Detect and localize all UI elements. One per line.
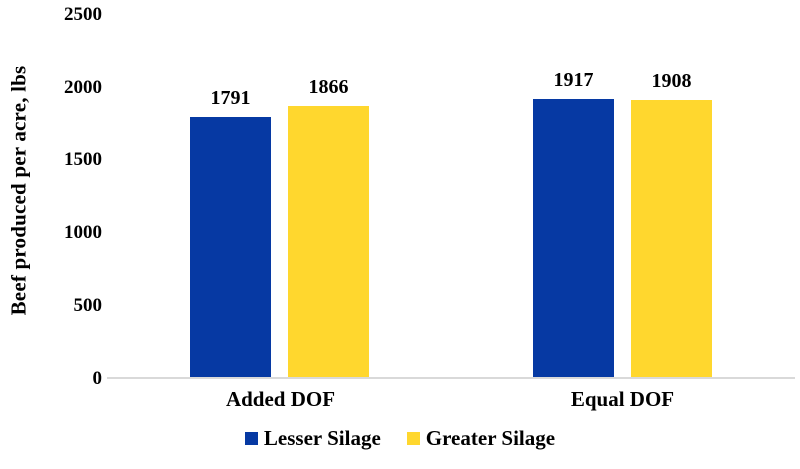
bar-value-1866: 1866: [268, 77, 389, 97]
y-tick-500: 500: [38, 296, 102, 315]
y-axis-title: Beef produced per acre, lbs: [0, 0, 38, 380]
y-tick-1000: 1000: [38, 223, 102, 242]
bar-added-dof-lesser-silage[interactable]: [190, 117, 271, 377]
bar-value-1908: 1908: [611, 71, 732, 91]
legend-label-lesser-silage: Lesser Silage: [264, 428, 381, 449]
bar-added-dof-greater-silage[interactable]: [288, 106, 369, 377]
y-tick-0: 0: [38, 369, 102, 388]
bar-chart: Beef produced per acre, lbs 2500 2000 15…: [0, 0, 800, 469]
y-tick-1500: 1500: [38, 150, 102, 169]
category-label-equal-dof: Equal DOF: [512, 386, 733, 413]
legend-item-greater-silage[interactable]: Greater Silage: [407, 428, 555, 449]
legend-item-lesser-silage[interactable]: Lesser Silage: [245, 428, 381, 449]
y-axis-title-text: Beef produced per acre, lbs: [7, 65, 32, 315]
bar-equal-dof-lesser-silage[interactable]: [533, 99, 614, 377]
legend-label-greater-silage: Greater Silage: [426, 428, 555, 449]
y-tick-2000: 2000: [38, 78, 102, 97]
y-tick-2500: 2500: [38, 5, 102, 24]
chart-legend: Lesser Silage Greater Silage: [0, 428, 800, 449]
x-axis-line: [107, 377, 795, 379]
legend-swatch-icon-greater-silage: [407, 432, 420, 445]
x-axis-category-labels: Added DOF Equal DOF: [107, 386, 795, 418]
bar-equal-dof-greater-silage[interactable]: [631, 100, 712, 377]
y-axis-tick-labels: 2500 2000 1500 1000 500 0: [38, 0, 102, 400]
plot-area: 1791 1866 1917 1908: [107, 0, 795, 378]
category-label-added-dof: Added DOF: [170, 386, 391, 413]
legend-swatch-icon-lesser-silage: [245, 432, 258, 445]
